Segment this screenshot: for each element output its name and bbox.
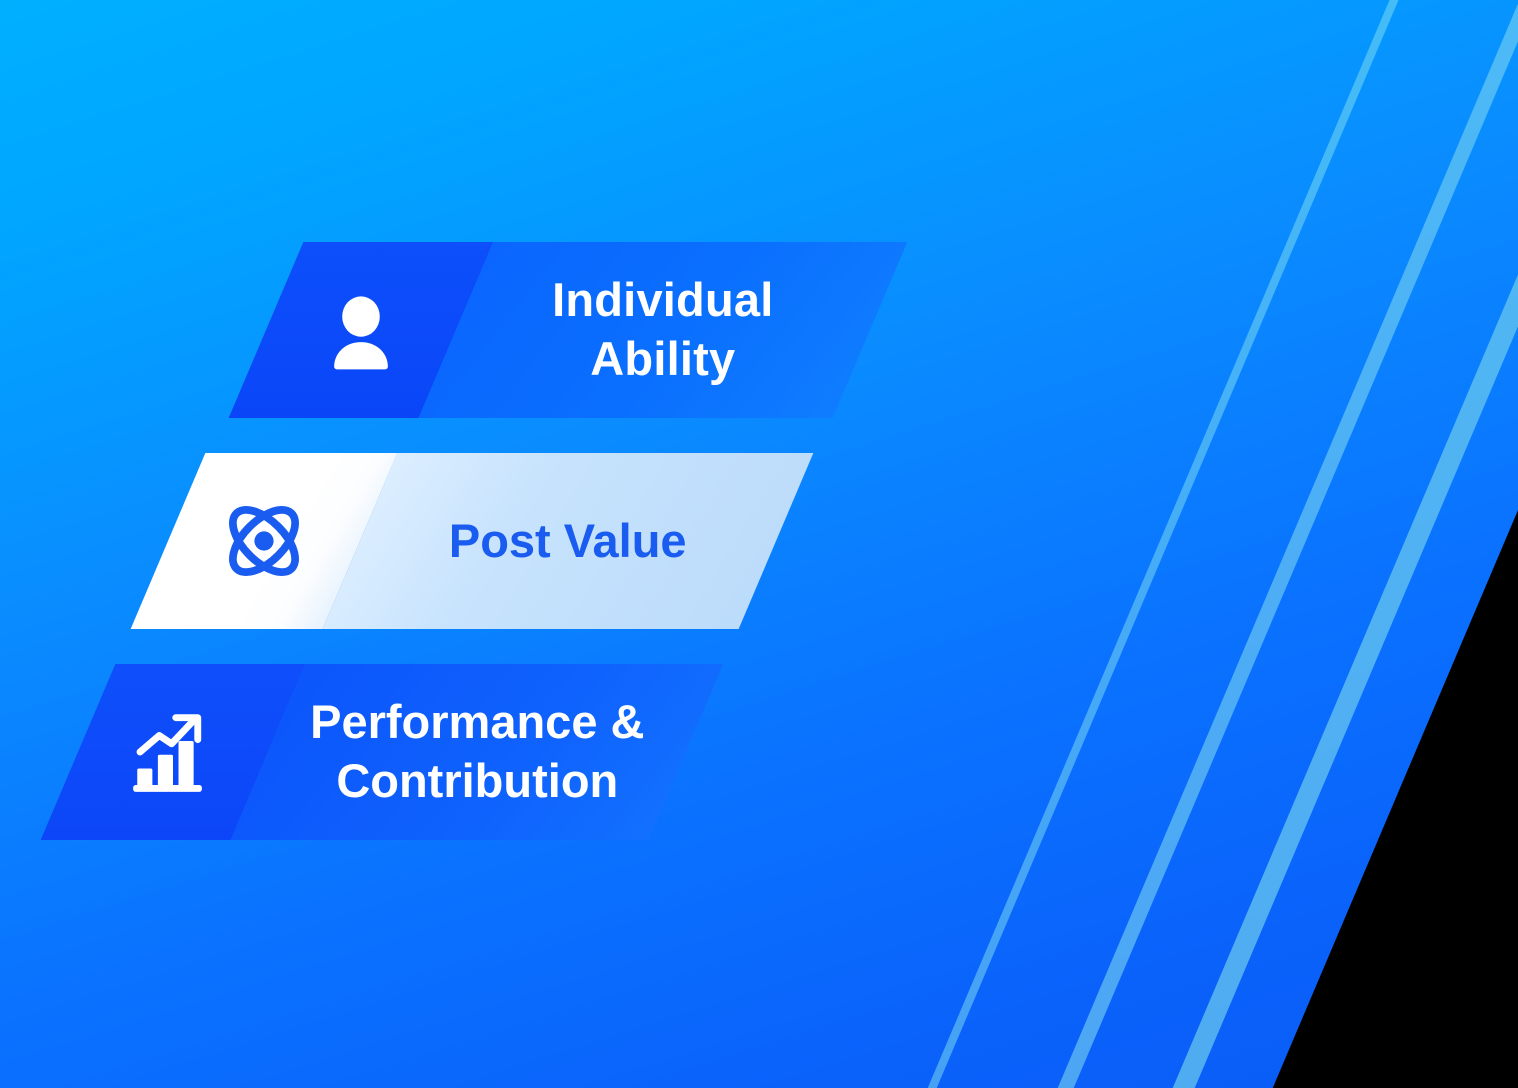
- band-performance-contribution[interactable]: Performance & Contribution: [41, 664, 724, 840]
- atom-icon: [216, 493, 312, 589]
- background-streak-1: [821, 0, 1467, 1088]
- band-individual-ability[interactable]: Individual Ability: [229, 242, 908, 418]
- band-label-panel-individual-ability: Individual Ability: [419, 242, 908, 418]
- person-icon: [318, 287, 404, 373]
- band-label-panel-post-value: Post Value: [323, 453, 814, 629]
- band-label-line1: Individual: [552, 271, 773, 330]
- band-label-line2: Ability: [552, 330, 773, 389]
- background-streak-2: [951, 0, 1518, 1088]
- band-label-line1: Post Value: [449, 512, 687, 571]
- banner-graphic: Individual Ability: [0, 0, 1518, 1088]
- band-label-line2: Contribution: [310, 752, 644, 811]
- band-label-panel-performance-contribution: Performance & Contribution: [231, 664, 724, 840]
- band-label-line1: Performance &: [310, 693, 644, 752]
- bar-chart-growth-icon: [129, 708, 217, 796]
- band-post-value[interactable]: Post Value: [131, 453, 814, 629]
